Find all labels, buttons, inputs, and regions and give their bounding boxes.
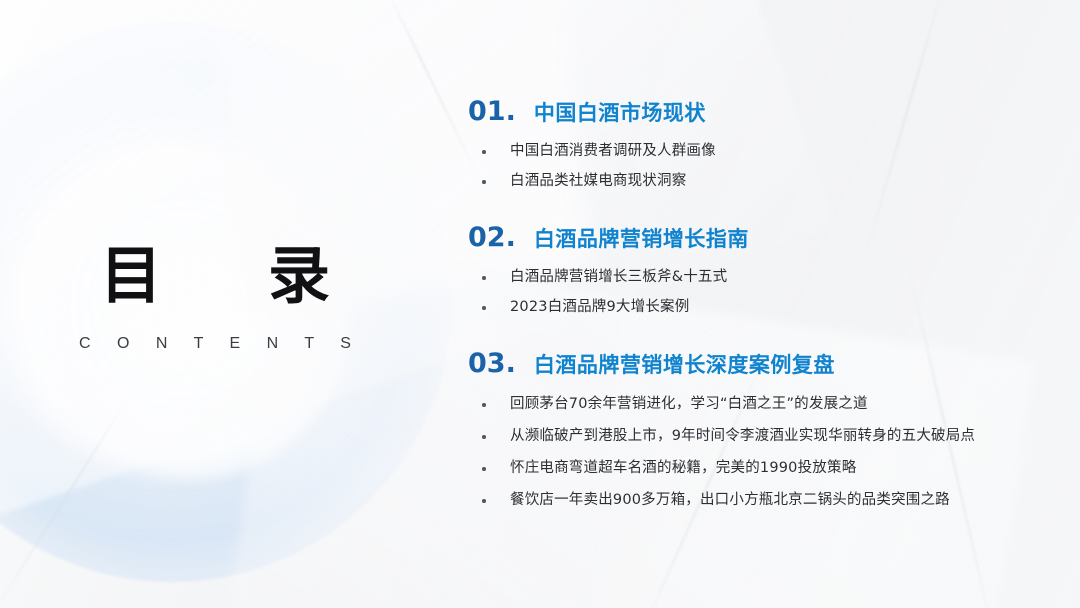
table-of-contents: 01. 中国白酒市场现状 中国白酒消费者调研及人群画像 白酒品类社媒电商现状洞察… [468,96,1068,522]
list-item[interactable]: 白酒品类社媒电商现状洞察 [478,171,1068,192]
toc-section-02-title: 白酒品牌营销增长指南 [534,223,749,253]
toc-section-02-bullets: 白酒品牌营销增长三板斧&十五式 2023白酒品牌9大增长案例 [468,267,1068,318]
toc-section-03-heading[interactable]: 03. 白酒品牌营销增长深度案例复盘 [468,348,1068,379]
list-item[interactable]: 回顾茅台70余年营销进化，学习“白酒之王”的发展之道 [478,394,1068,415]
presentation-slide: 目 录 C O N T E N T S 01. 中国白酒市场现状 中国白酒消费者… [0,0,1080,608]
toc-section-02-heading[interactable]: 02. 白酒品牌营销增长指南 [468,222,1068,253]
toc-section-01-bullets: 中国白酒消费者调研及人群画像 白酒品类社媒电商现状洞察 [468,141,1068,192]
toc-section-01: 01. 中国白酒市场现状 中国白酒消费者调研及人群画像 白酒品类社媒电商现状洞察 [468,96,1068,192]
toc-section-01-number: 01. [468,96,516,127]
page-title-en: C O N T E N T S [0,335,430,353]
toc-section-03-title: 白酒品牌营销增长深度案例复盘 [534,349,835,379]
toc-section-01-title: 中国白酒市场现状 [534,97,706,127]
page-title-cn: 目 录 [0,245,430,307]
toc-section-03-number: 03. [468,348,516,379]
list-item[interactable]: 怀庄电商弯道超车名酒的秘籍，完美的1990投放策略 [478,458,1068,479]
list-item[interactable]: 中国白酒消费者调研及人群画像 [478,141,1068,162]
list-item[interactable]: 白酒品牌营销增长三板斧&十五式 [478,267,1068,288]
list-item[interactable]: 餐饮店一年卖出900多万箱，出口小方瓶北京二锅头的品类突围之路 [478,490,1068,511]
toc-section-02-number: 02. [468,222,516,253]
toc-section-03: 03. 白酒品牌营销增长深度案例复盘 回顾茅台70余年营销进化，学习“白酒之王”… [468,348,1068,511]
toc-section-03-bullets: 回顾茅台70余年营销进化，学习“白酒之王”的发展之道 从濒临破产到港股上市，9年… [468,394,1068,511]
toc-section-02: 02. 白酒品牌营销增长指南 白酒品牌营销增长三板斧&十五式 2023白酒品牌9… [468,222,1068,318]
list-item[interactable]: 2023白酒品牌9大增长案例 [478,297,1068,318]
list-item[interactable]: 从濒临破产到港股上市，9年时间令李渡酒业实现华丽转身的五大破局点 [478,426,1068,447]
toc-section-01-heading[interactable]: 01. 中国白酒市场现状 [468,96,1068,127]
slide-title-block: 目 录 C O N T E N T S [0,245,430,353]
